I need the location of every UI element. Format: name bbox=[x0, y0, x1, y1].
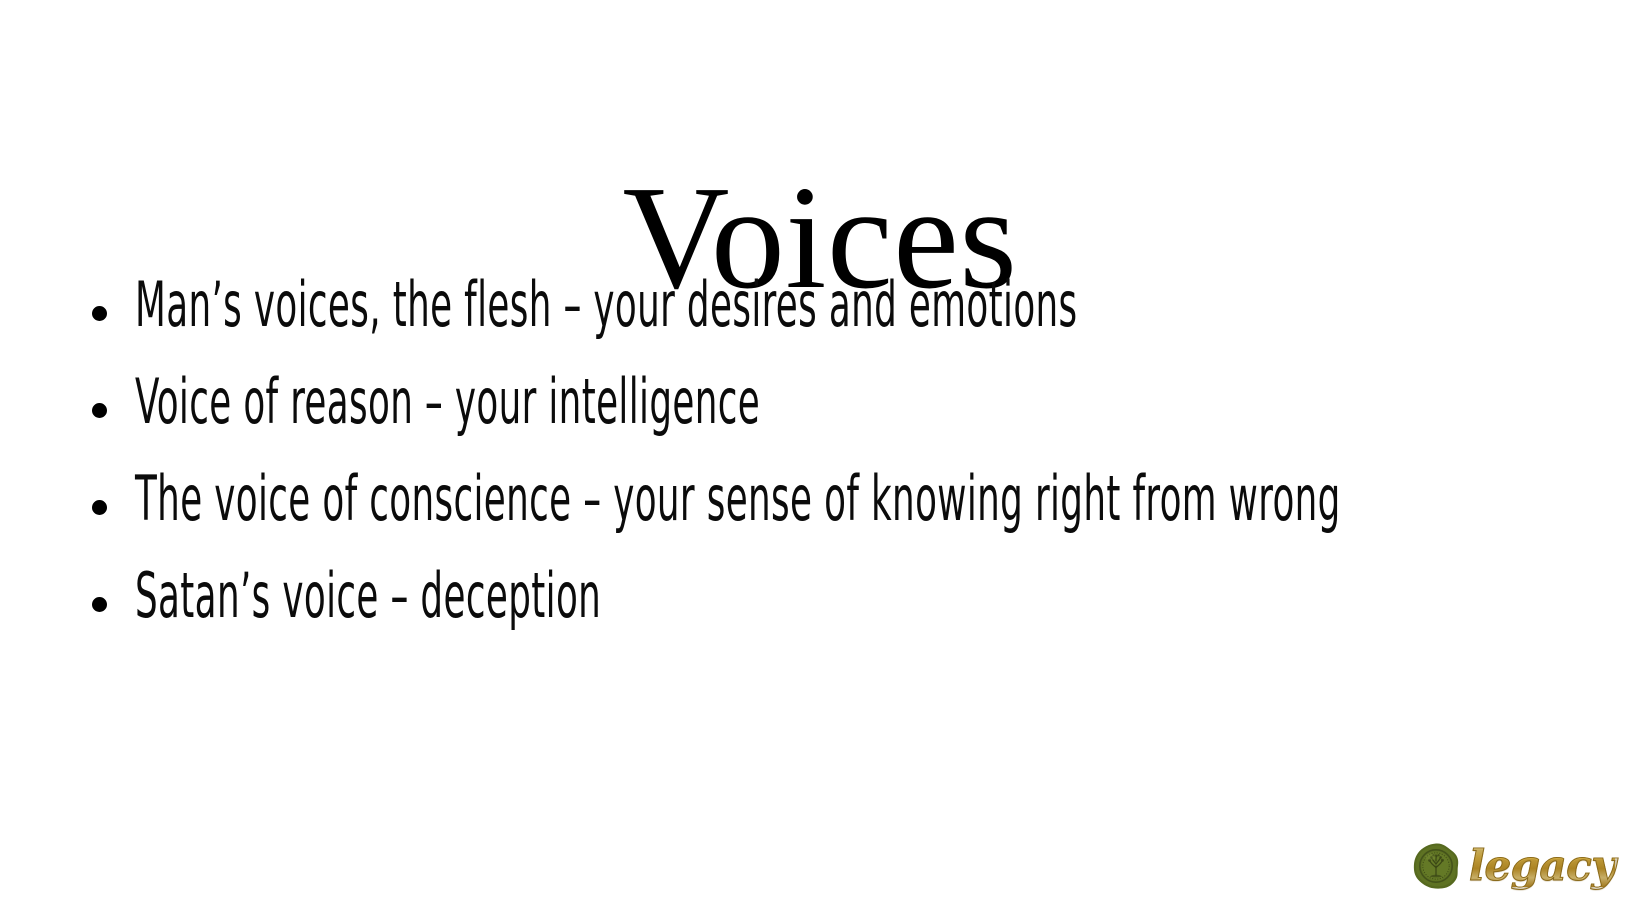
bullet-item-text: The voice of conscience – your sense of … bbox=[135, 466, 1059, 533]
bullet-point-icon bbox=[92, 306, 107, 321]
list-item: Satan’s voice – deception bbox=[78, 563, 1578, 635]
bullet-item-text: Satan’s voice – deception bbox=[135, 563, 1059, 630]
legacy-logo: legacy bbox=[1412, 842, 1615, 890]
list-item: Man’s voices, the flesh – your desires a… bbox=[78, 272, 1578, 344]
bullet-list: Man’s voices, the flesh – your desires a… bbox=[78, 272, 1578, 660]
tree-of-life-wax-seal-icon bbox=[1412, 842, 1460, 890]
list-item: The voice of conscience – your sense of … bbox=[78, 466, 1578, 538]
bullet-point-icon bbox=[92, 500, 107, 515]
bullet-item-text: Voice of reason – your intelligence bbox=[135, 369, 1059, 436]
logo-wordmark: legacy bbox=[1469, 845, 1615, 887]
presentation-slide: Voices Man’s voices, the flesh – your de… bbox=[0, 0, 1640, 924]
list-item: Voice of reason – your intelligence bbox=[78, 369, 1578, 441]
bullet-point-icon bbox=[92, 403, 107, 418]
bullet-item-text: Man’s voices, the flesh – your desires a… bbox=[135, 272, 1059, 339]
bullet-point-icon bbox=[92, 597, 107, 612]
